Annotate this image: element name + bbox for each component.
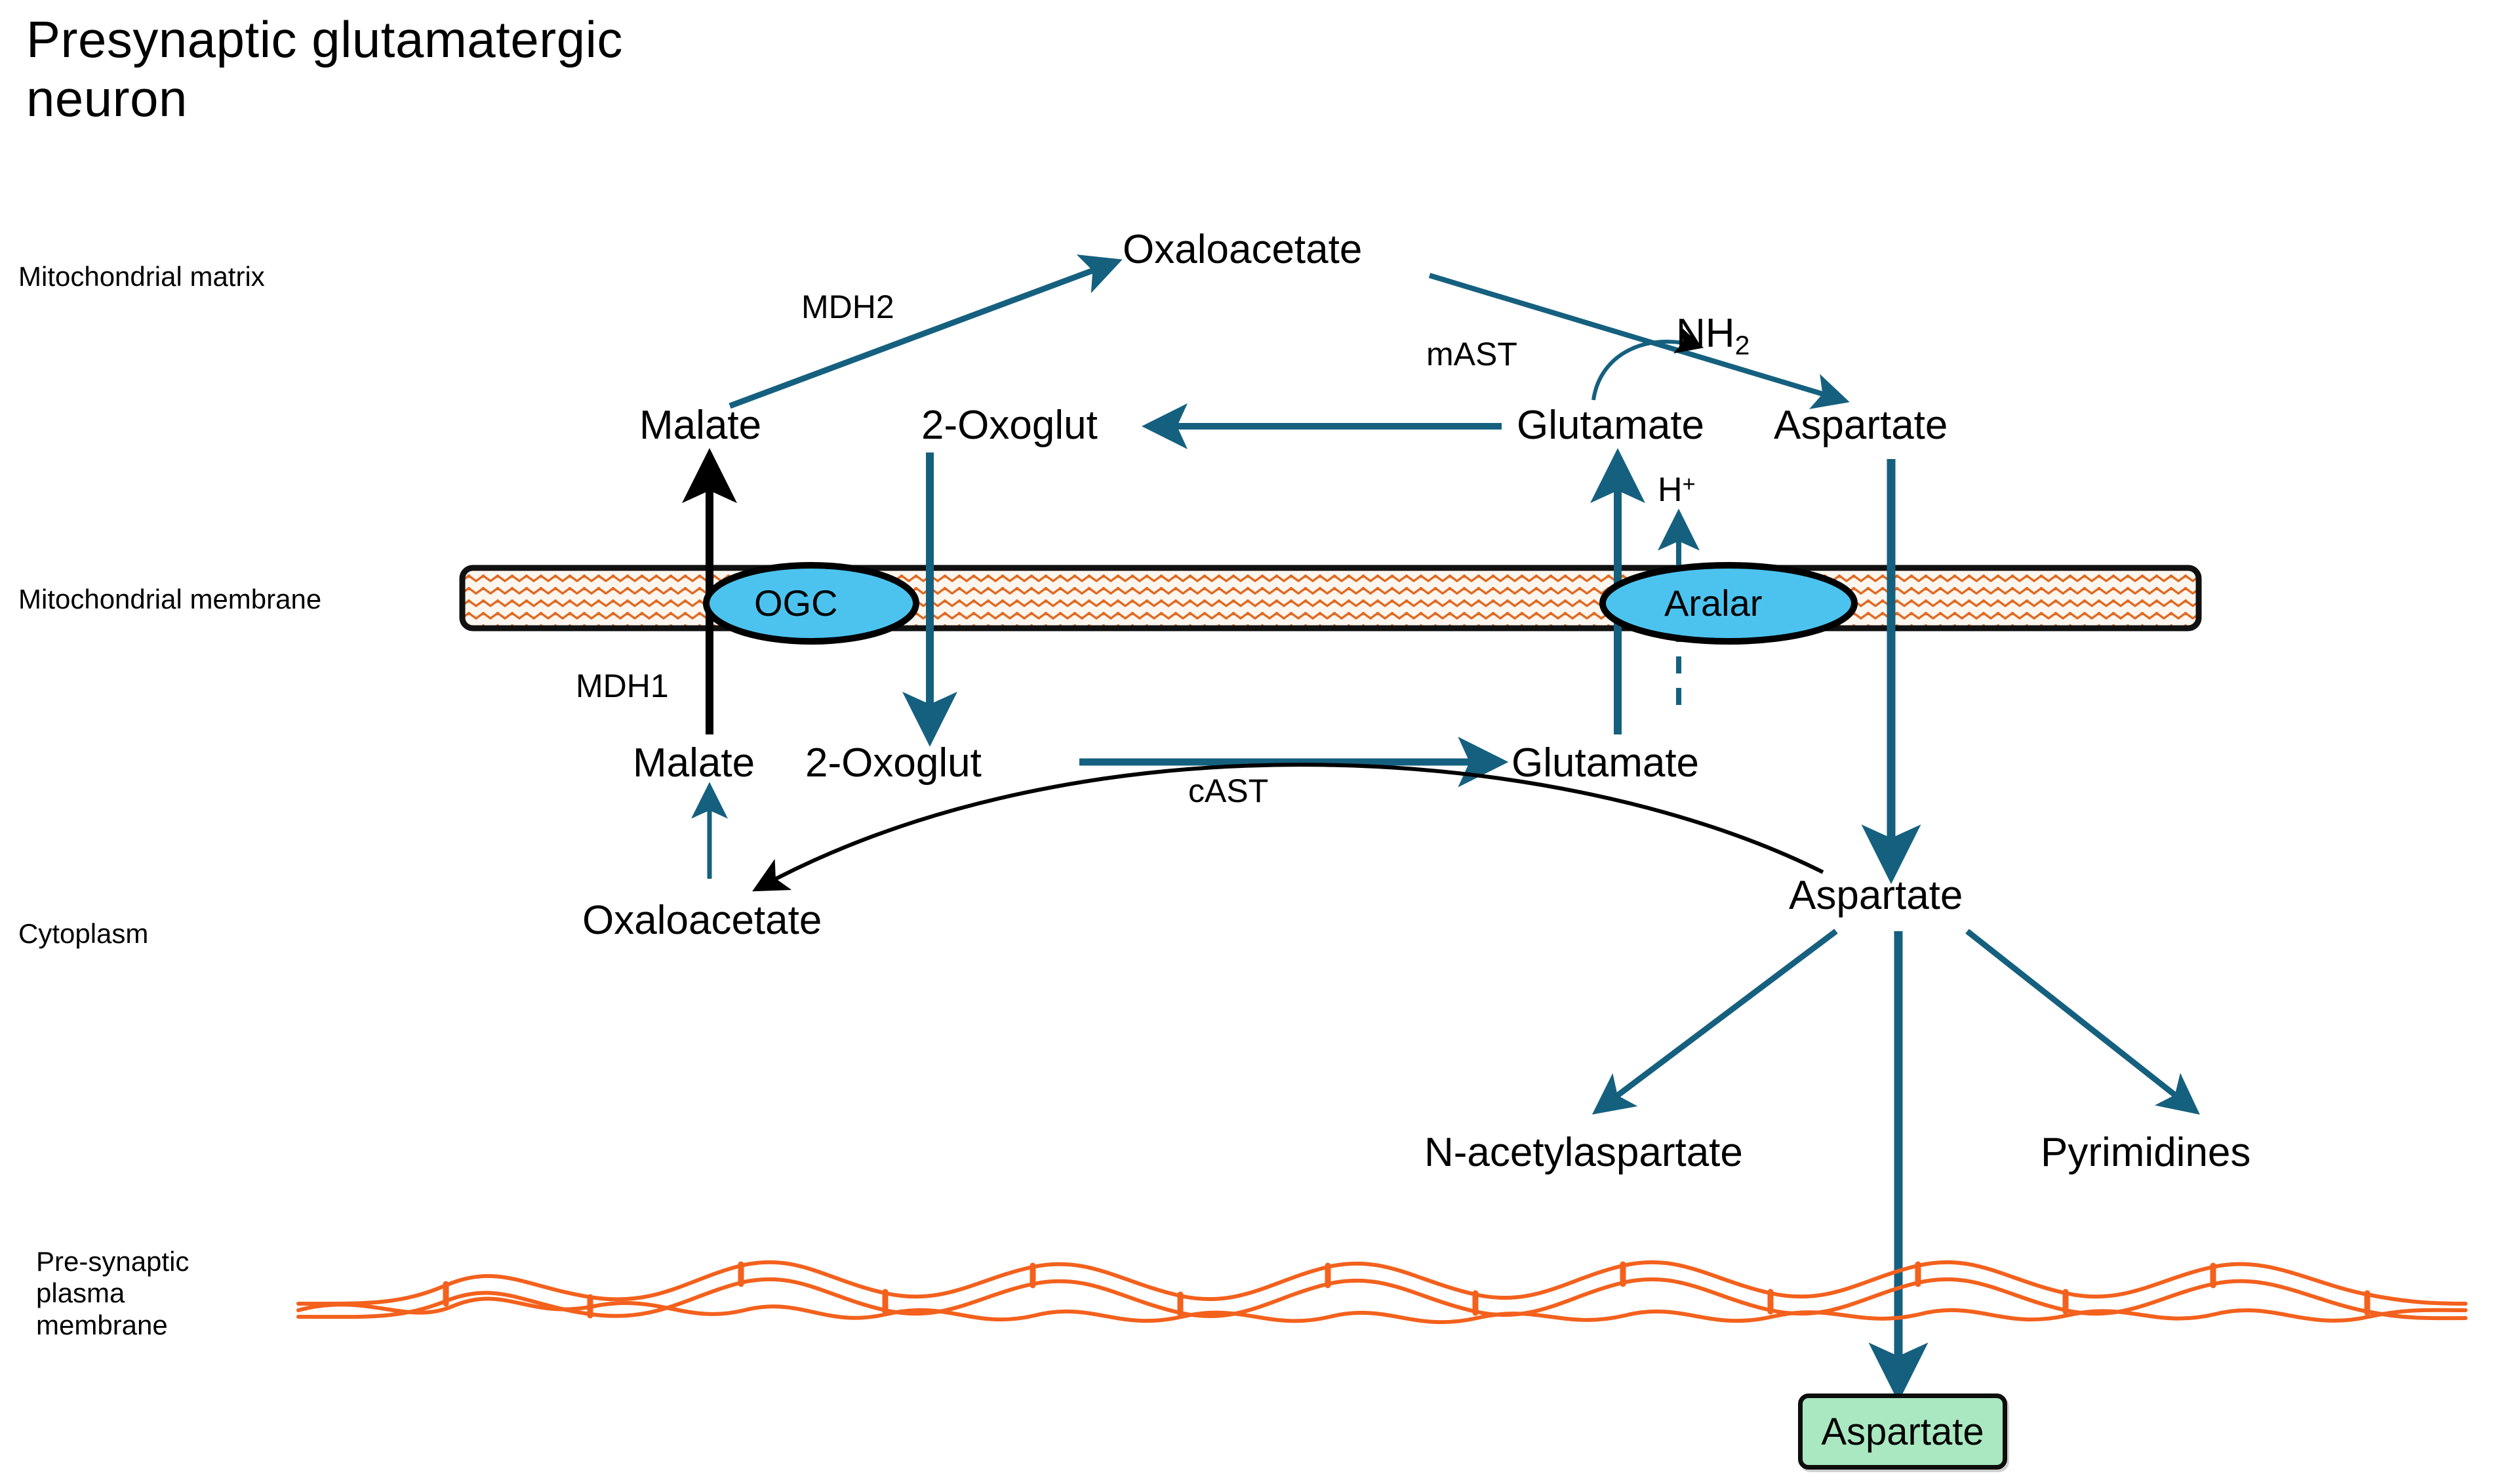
molecule-oxaloacetate-matrix: Oxaloacetate <box>1123 226 1362 273</box>
molecule-malate-cyto: Malate <box>633 740 755 786</box>
plasma-membrane-line-2: plasma <box>36 1277 189 1309</box>
molecule-aspartate-matrix: Aspartate <box>1774 402 1948 449</box>
enzyme-mdh1: MDH1 <box>576 668 669 706</box>
zone-label-cytoplasm: Cytoplasm <box>18 918 148 950</box>
pathway-svg <box>0 0 2520 1484</box>
diagram-canvas: Presynaptic glutamatergic neuron Mitocho… <box>0 0 2520 1484</box>
arrow-aspartate-to-pyrimidines <box>1967 931 2193 1110</box>
molecule-hplus: H+ <box>1658 471 1696 510</box>
molecule-pyrimidines: Pyrimidines <box>2041 1129 2250 1176</box>
arrow-aspartate-to-n-acetylaspartate <box>1599 931 1836 1110</box>
nh2-subscript: 2 <box>1735 330 1750 360</box>
plasma-membrane-line-3: membrane <box>36 1310 189 1341</box>
molecule-malate-matrix: Malate <box>639 402 761 449</box>
carrier-label-ogc[interactable]: OGC <box>754 582 838 624</box>
page-title: Presynaptic glutamatergic neuron <box>26 10 682 128</box>
zone-label-mitochondrial-matrix: Mitochondrial matrix <box>18 261 265 292</box>
hplus-superscript: + <box>1683 472 1696 497</box>
carrier-label-aralar[interactable]: Aralar <box>1664 582 1762 624</box>
presynaptic-plasma-membrane <box>298 1262 2466 1322</box>
aspartate-release-box[interactable]: Aspartate <box>1798 1394 2007 1470</box>
plasma-membrane-line-1: Pre-synaptic <box>36 1246 189 1277</box>
molecule-glutamate-cyto: Glutamate <box>1511 740 1699 786</box>
arrow-malate-to-oxaloacetate <box>730 262 1115 406</box>
hplus-base: H <box>1658 471 1683 509</box>
enzyme-mast: mAST <box>1426 336 1517 374</box>
nh2-base: NH <box>1676 311 1735 356</box>
molecule-glutamate-matrix: Glutamate <box>1517 402 1704 449</box>
molecule-aspartate-cyto: Aspartate <box>1789 872 1963 919</box>
zone-label-mitochondrial-membrane: Mitochondrial membrane <box>18 584 321 615</box>
zone-label-presynaptic-plasma-membrane: Pre-synaptic plasma membrane <box>36 1246 189 1341</box>
enzyme-mdh2: MDH2 <box>801 289 894 327</box>
molecule-n-acetylaspartate: N-acetylaspartate <box>1424 1129 1743 1176</box>
aspartate-release-label: Aspartate <box>1821 1410 1984 1454</box>
molecule-oxaloacetate-cyto: Oxaloacetate <box>582 897 822 944</box>
molecule-oxoglut-matrix: 2-Oxoglut <box>921 402 1098 449</box>
molecule-nh2: NH2 <box>1676 310 1750 361</box>
enzyme-cast: cAST <box>1188 772 1268 811</box>
molecule-oxoglut-cyto: 2-Oxoglut <box>805 740 982 786</box>
